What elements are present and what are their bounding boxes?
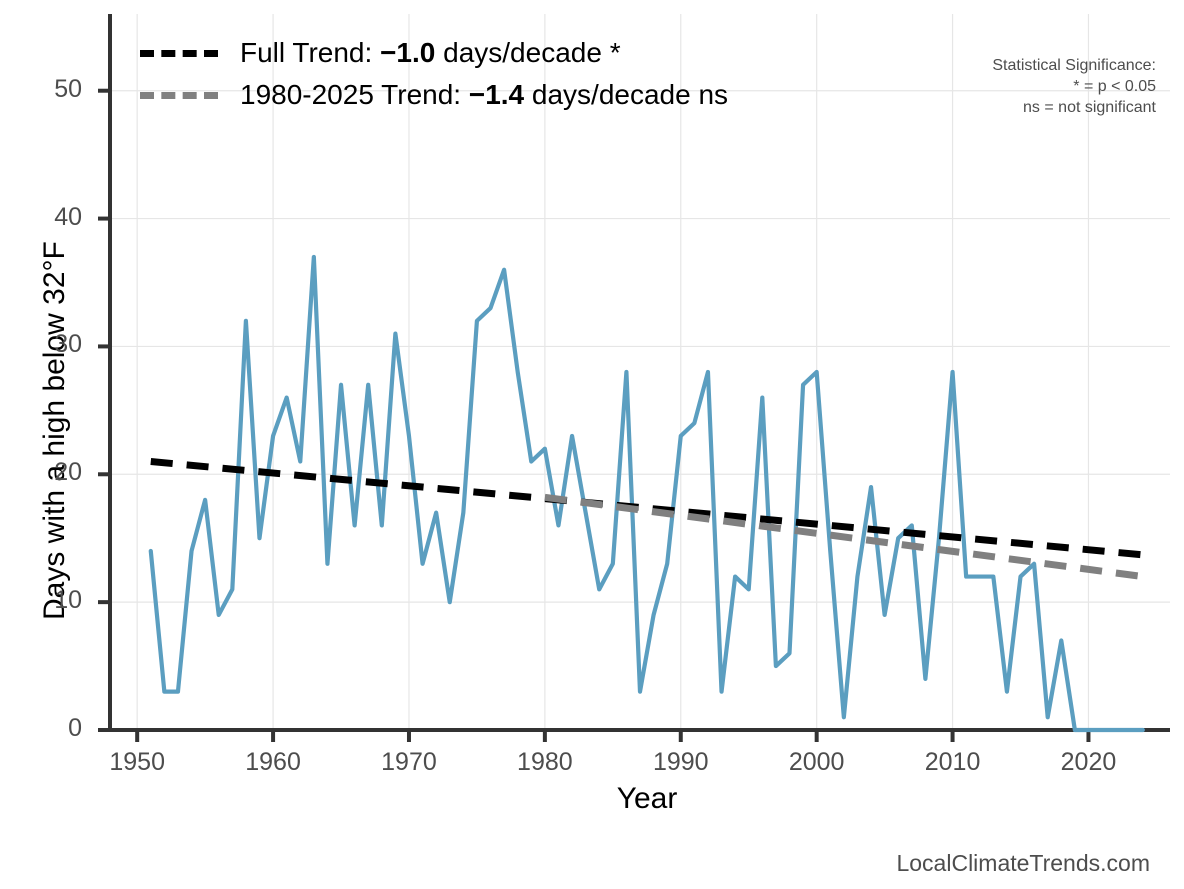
x-axis-title: Year (0, 782, 1184, 816)
legend-value-full: −1.0 (380, 37, 435, 68)
legend-item-full-trend: Full Trend: −1.0 days/decade * (140, 32, 728, 74)
significance-note-line1: Statistical Significance: (992, 55, 1156, 76)
x-tick-label: 1950 (82, 748, 192, 777)
climate-chart-figure: Days with a high below 32°F Year 0102030… (0, 0, 1184, 889)
x-tick-label: 2020 (1033, 748, 1143, 777)
x-tick-label: 1960 (218, 748, 328, 777)
footer-credit: LocalClimateTrends.com (896, 850, 1150, 877)
legend-item-recent-trend: 1980-2025 Trend: −1.4 days/decade ns (140, 74, 728, 116)
data-series-layer (151, 257, 1143, 730)
significance-note: Statistical Significance: * = p < 0.05 n… (992, 55, 1156, 118)
x-tick-label: 2010 (898, 748, 1008, 777)
data-line (151, 257, 1143, 730)
y-tick-label: 30 (12, 330, 82, 359)
x-tick-label: 1970 (354, 748, 464, 777)
significance-note-line2: * = p < 0.05 (992, 76, 1156, 97)
legend-label-recent-trend: 1980-2025 Trend: −1.4 days/decade ns (240, 79, 728, 111)
chart-legend: Full Trend: −1.0 days/decade * 1980-2025… (140, 32, 728, 116)
legend-prefix-recent: 1980-2025 Trend: (240, 79, 469, 110)
legend-value-recent: −1.4 (469, 79, 524, 110)
tick-marks (98, 91, 1088, 742)
y-tick-label: 40 (12, 203, 82, 232)
significance-note-line3: ns = not significant (992, 97, 1156, 118)
legend-dash-recent-trend (140, 92, 218, 99)
trendline-full (151, 462, 1143, 555)
x-tick-label: 1990 (626, 748, 736, 777)
x-tick-label: 2000 (762, 748, 872, 777)
y-axis-title: Days with a high below 32°F (38, 241, 72, 620)
axis-lines (110, 14, 1170, 730)
y-tick-label: 10 (12, 586, 82, 615)
legend-dash-full-trend (140, 50, 218, 57)
y-tick-label: 0 (12, 714, 82, 743)
x-tick-label: 1980 (490, 748, 600, 777)
legend-suffix-recent: days/decade ns (524, 79, 728, 110)
legend-suffix-full: days/decade * (435, 37, 620, 68)
y-tick-label: 50 (12, 75, 82, 104)
legend-label-full-trend: Full Trend: −1.0 days/decade * (240, 37, 621, 69)
y-tick-label: 20 (12, 458, 82, 487)
gridlines (110, 14, 1170, 730)
legend-prefix-full: Full Trend: (240, 37, 380, 68)
